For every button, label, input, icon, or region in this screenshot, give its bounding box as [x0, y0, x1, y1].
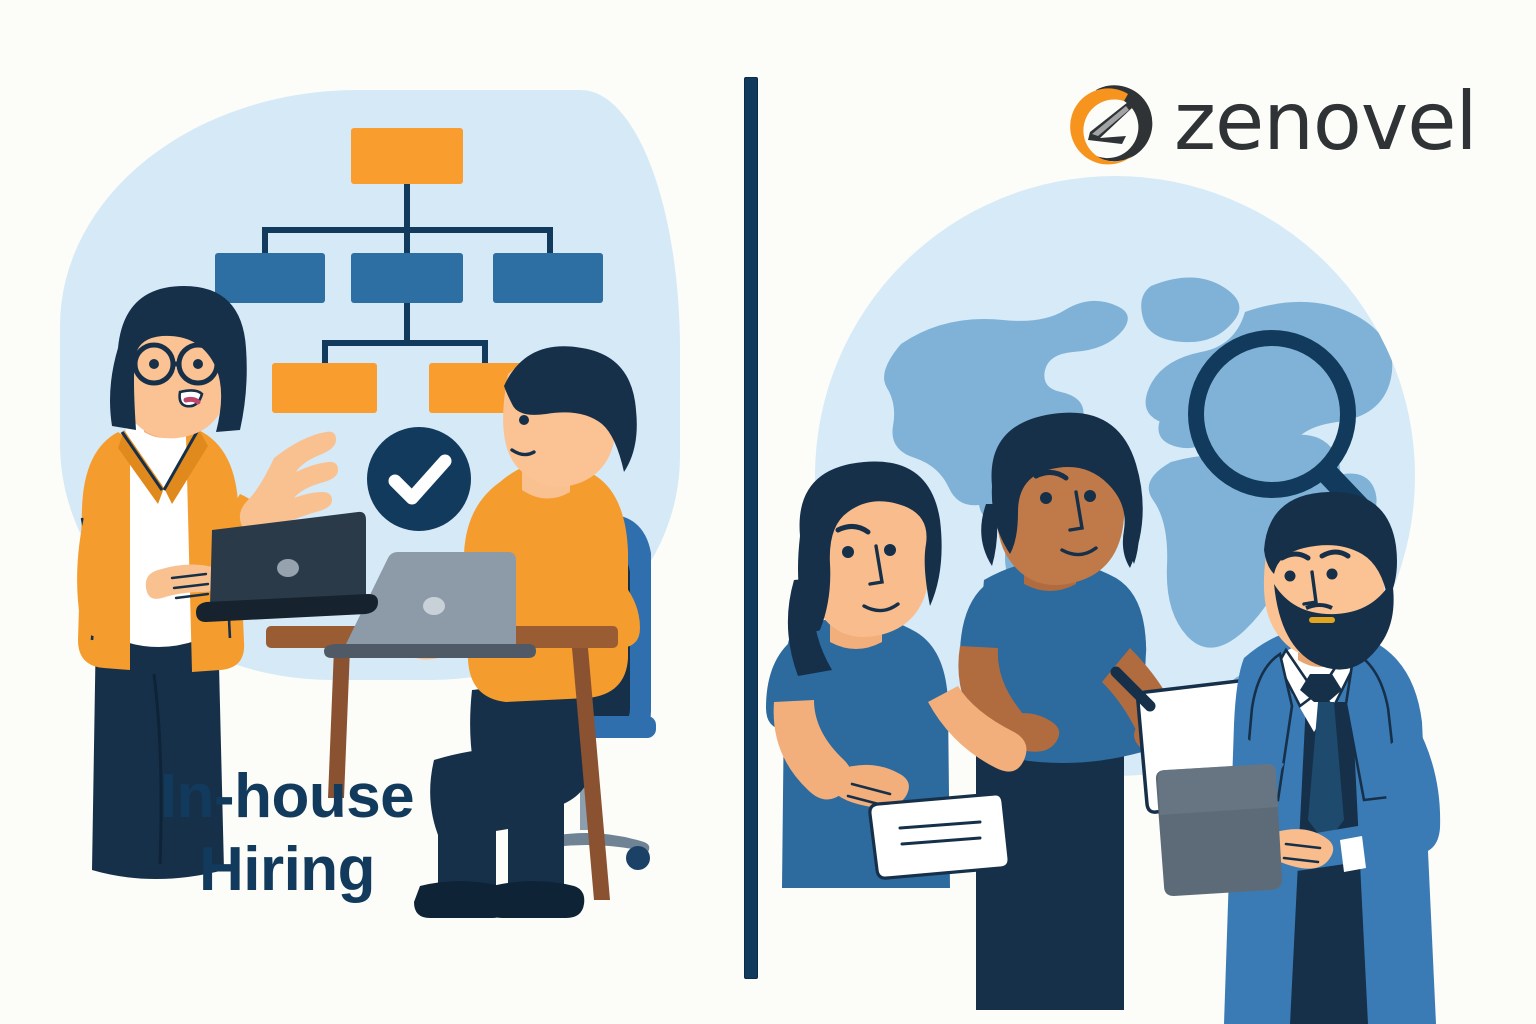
org-link-drop-mid [404, 227, 410, 255]
org-link-root-stem [404, 184, 410, 230]
left-panel-label: In-house Hiring [122, 760, 452, 906]
bearded-man-in-suit [1170, 488, 1536, 1024]
brand-logo: zenovel [1066, 78, 1476, 170]
left-panel-in-house-hiring: In-house Hiring [0, 0, 748, 1024]
illustration-canvas: In-house Hiring [0, 0, 1536, 1024]
zenovel-z-swoosh-mark [1066, 80, 1158, 168]
org-node-l2-2 [351, 253, 463, 303]
vertical-divider [745, 78, 757, 978]
org-node-l2-3 [493, 253, 603, 303]
org-node-root [351, 128, 463, 184]
brand-wordmark: zenovel [1174, 76, 1477, 168]
org-link-drop-left [262, 227, 268, 255]
org-link-drop-right [547, 227, 553, 255]
woman-writing-at-desk [772, 440, 1072, 1020]
